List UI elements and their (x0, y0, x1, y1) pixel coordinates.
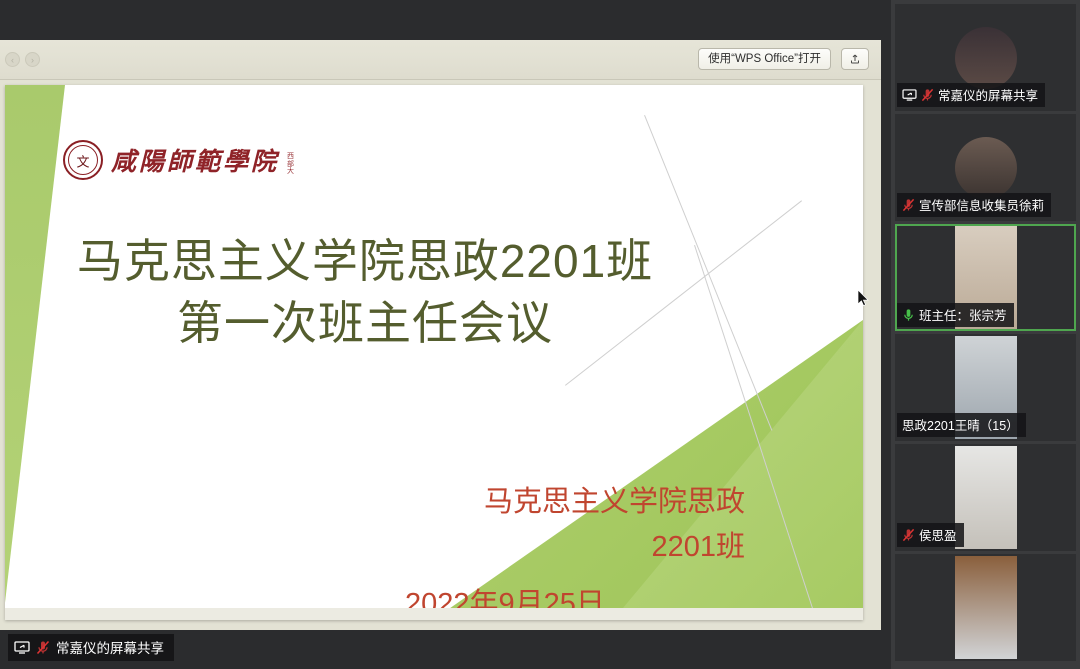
participant-tile[interactable]: 宣传部信息收集员徐莉 (895, 114, 1076, 221)
mic-muted-icon (921, 88, 934, 102)
open-with-wps-office-button[interactable]: 使用“WPS Office”打开 (698, 48, 831, 70)
mouse-cursor-icon (858, 290, 870, 308)
participant-name: 班主任：张宗芳 (919, 305, 1007, 324)
seal-glyph: 文 (76, 151, 89, 170)
participant-name: 侯思盈 (919, 525, 957, 544)
participant-tile[interactable]: 思政2201王晴（15） (895, 334, 1076, 441)
video-feed (955, 556, 1017, 661)
document-toolbar: ‹ › 使用“WPS Office”打开 (0, 40, 881, 80)
mic-active-icon (902, 308, 915, 322)
slide-title: 马克思主义学院思政2201班 第一次班主任会议 (5, 230, 725, 354)
logo-sub-line-3: 大 (287, 168, 294, 176)
share-button[interactable] (841, 48, 869, 70)
screen-share-icon (902, 89, 917, 101)
screen-share-icon (14, 641, 30, 654)
participant-label: 班主任：张宗芳 (897, 303, 1014, 327)
nav-buttons: ‹ › (5, 52, 40, 67)
shared-screen-region: ‹ › 使用“WPS Office”打开 (0, 0, 891, 669)
participant-name: 常嘉仪的屏幕共享 (938, 85, 1038, 104)
forward-circle-icon[interactable]: › (25, 52, 40, 67)
avatar (955, 137, 1017, 199)
mic-muted-icon (902, 198, 915, 212)
logo-sub-line-1: 西 (287, 153, 294, 161)
screen-share-status-bar: 常嘉仪的屏幕共享 (0, 630, 891, 669)
participant-tile[interactable] (895, 554, 1076, 661)
mic-muted-icon (36, 640, 50, 655)
slide-title-line-2: 第一次班主任会议 (5, 292, 725, 354)
slide-scroll-area[interactable]: 文 咸陽師範學院 西 部 大 马克思主义学院思政2201班 第一次班主任会议 (0, 80, 881, 630)
slide-subtitle-line-2: 2201班 (325, 525, 745, 570)
participant-label: 侯思盈 (897, 523, 964, 547)
university-logo: 文 咸陽師範學院 西 部 大 (63, 140, 294, 180)
participant-label: 常嘉仪的屏幕共享 (897, 83, 1045, 107)
participant-tile[interactable]: 常嘉仪的屏幕共享 (895, 4, 1076, 111)
document-viewer: ‹ › 使用“WPS Office”打开 (0, 40, 881, 630)
share-icon (849, 53, 861, 65)
slide-subtitle: 马克思主义学院思政 2201班 (325, 480, 745, 570)
participant-name: 宣传部信息收集员徐莉 (919, 195, 1044, 214)
presentation-slide: 文 咸陽師範學院 西 部 大 马克思主义学院思政2201班 第一次班主任会议 (5, 85, 863, 620)
university-name: 咸陽師範學院 (111, 142, 279, 178)
participant-tile[interactable]: 侯思盈 (895, 444, 1076, 551)
participant-label: 宣传部信息收集员徐莉 (897, 193, 1051, 217)
screen-share-top-letterbox (0, 0, 891, 40)
screen-share-status-label-wrap: 常嘉仪的屏幕共享 (8, 634, 174, 661)
screen-share-status-label: 常嘉仪的屏幕共享 (56, 637, 164, 657)
participant-label: 思政2201王晴（15） (897, 413, 1026, 437)
video-feed (955, 446, 1017, 551)
participant-rail[interactable]: 常嘉仪的屏幕共享 宣传部信息收集员徐莉 (891, 0, 1080, 669)
slide-subtitle-line-1: 马克思主义学院思政 (325, 480, 745, 525)
slide-bottom-strip (5, 608, 863, 620)
university-seal-icon: 文 (63, 140, 103, 180)
slide-title-line-1: 马克思主义学院思政2201班 (5, 230, 725, 292)
participant-tile-active-speaker[interactable]: 班主任：张宗芳 (895, 224, 1076, 331)
back-circle-icon[interactable]: ‹ (5, 52, 20, 67)
avatar (955, 27, 1017, 89)
university-name-sub: 西 部 大 (287, 153, 294, 176)
participant-name: 思政2201王晴（15） (902, 415, 1019, 434)
mic-muted-icon (902, 528, 915, 542)
meeting-screen-share-window: ‹ › 使用“WPS Office”打开 (0, 0, 1080, 669)
